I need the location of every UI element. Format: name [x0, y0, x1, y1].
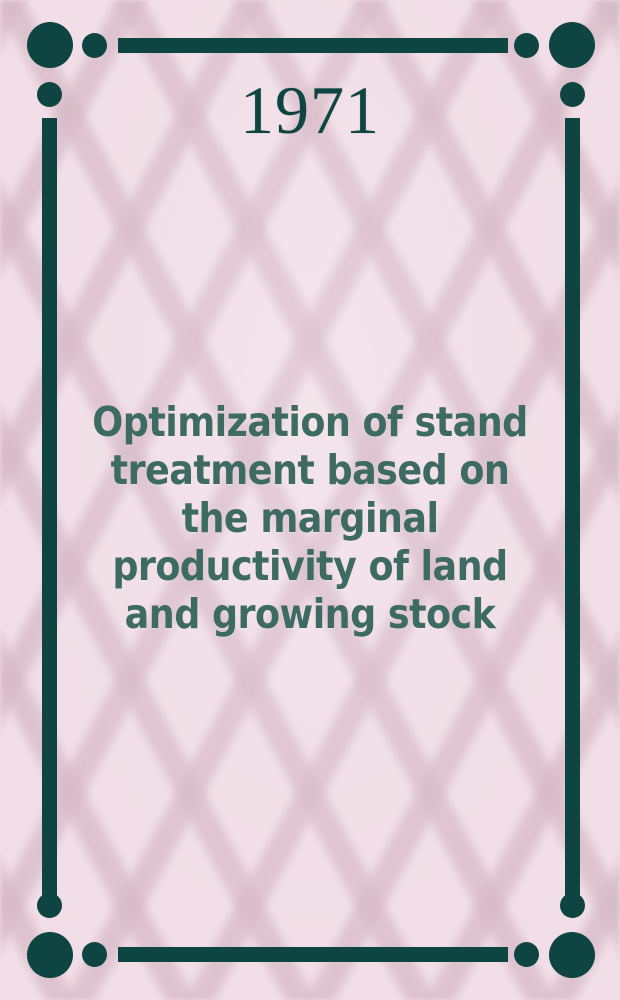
corner-small-dot-top-right-horizontal: [514, 33, 539, 58]
cover-title: Optimization of stand treatment based on…: [84, 398, 536, 638]
frame-bar-left-vertical-upper: [42, 118, 57, 908]
corner-small-dot-bottom-right-vertical: [560, 893, 585, 918]
frame-bar-top-left-horizontal: [118, 38, 508, 53]
frame-bar-bottom-horizontal: [118, 947, 508, 962]
corner-large-dot-top-right: [549, 22, 595, 68]
corner-small-dot-bottom-right-horizontal: [514, 942, 539, 967]
corner-large-dot-bottom-left: [27, 932, 73, 978]
corner-small-dot-top-left-horizontal: [82, 33, 107, 58]
corner-large-dot-top-left: [27, 22, 73, 68]
corner-small-dot-bottom-left-vertical: [37, 893, 62, 918]
publication-year: 1971: [0, 76, 620, 144]
corner-small-dot-bottom-left-horizontal: [82, 942, 107, 967]
corner-large-dot-bottom-right: [549, 932, 595, 978]
book-cover: 1971 Optimization of stand treatment bas…: [0, 0, 620, 1000]
frame-bar-right-vertical-upper: [565, 118, 580, 908]
